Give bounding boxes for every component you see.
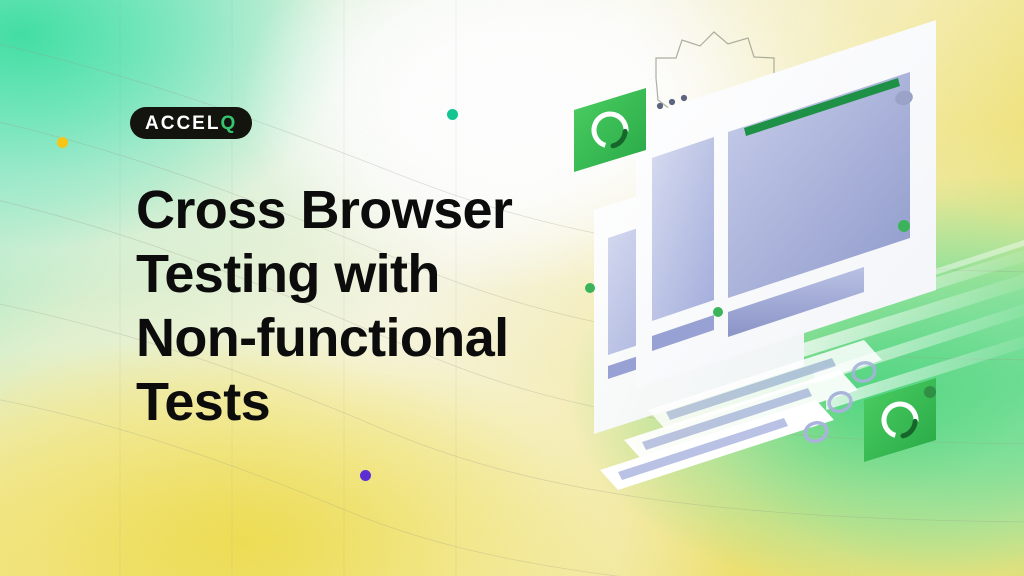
logo-wordmark-main: ACCEL [145,113,220,134]
page-title: Cross Browser Testing with Non-functiona… [136,178,566,434]
decorative-dot-yellow [57,137,68,148]
accelq-logo[interactable]: ACCELQ [130,107,252,139]
refresh-card-top [574,88,646,172]
logo-wordmark-accent: Q [220,113,237,134]
marketing-banner: ACCELQ Cross Browser Testing with Non-fu… [0,0,1024,576]
headline-line-3: Non-functional [136,306,566,370]
browser-window-main [636,20,936,388]
headline-line-4: Tests [136,370,566,434]
headline-line-2: Testing with [136,242,566,306]
logo-wordmark: ACCELQ [145,114,237,133]
decorative-dot-purple [360,470,371,481]
isometric-illustration [564,0,1024,576]
headline-line-1: Cross Browser [136,178,566,242]
decorative-dot-teal [447,109,458,120]
